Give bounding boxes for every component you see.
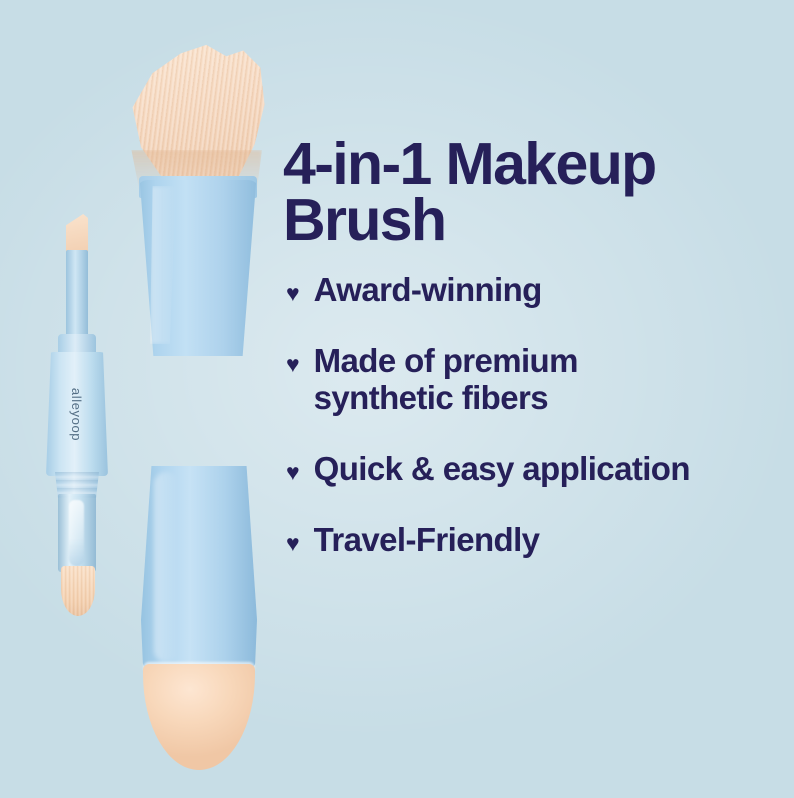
heart-bullet-icon: ♥ [286,460,300,484]
heart-bullet-icon: ♥ [286,352,300,376]
list-item: ♥ Award-winning [286,272,706,309]
copy-column: 4-in-1 Makeup Brush ♥ Award-winning ♥ Ma… [283,0,783,798]
product-marketing-image: alleyoop 4-in-1 Makeup Brush ♥ Award-win… [0,0,794,798]
feature-label: Travel-Friendly [314,522,540,559]
feature-label: Award-winning [314,272,542,309]
feature-label: Quick & easy application [314,451,690,488]
headline-line-2: Brush [283,187,445,253]
concealer-brush-ferrule [66,250,88,338]
list-item: ♥ Made of premium synthetic fibers [286,343,706,417]
feature-list: ♥ Award-winning ♥ Made of premium synthe… [286,272,706,593]
smudger-brush-tip [61,566,95,616]
list-item: ♥ Travel-Friendly [286,522,706,559]
sponge-applicator-tip [143,664,255,770]
heart-bullet-icon: ♥ [286,531,300,555]
list-item: ♥ Quick & easy application [286,451,706,488]
product-image: alleyoop [0,0,300,798]
heart-bullet-icon: ♥ [286,281,300,305]
feature-label: Made of premium synthetic fibers [314,343,706,417]
sponge-applicator-handle-highlight [154,472,178,662]
brand-logo: alleyoop [46,352,108,476]
smudger-ferrule-highlight [69,500,84,566]
page-title: 4-in-1 Makeup Brush [283,136,763,249]
brand-logo-text: alleyoop [69,387,84,440]
concealer-brush-tip [66,214,88,254]
